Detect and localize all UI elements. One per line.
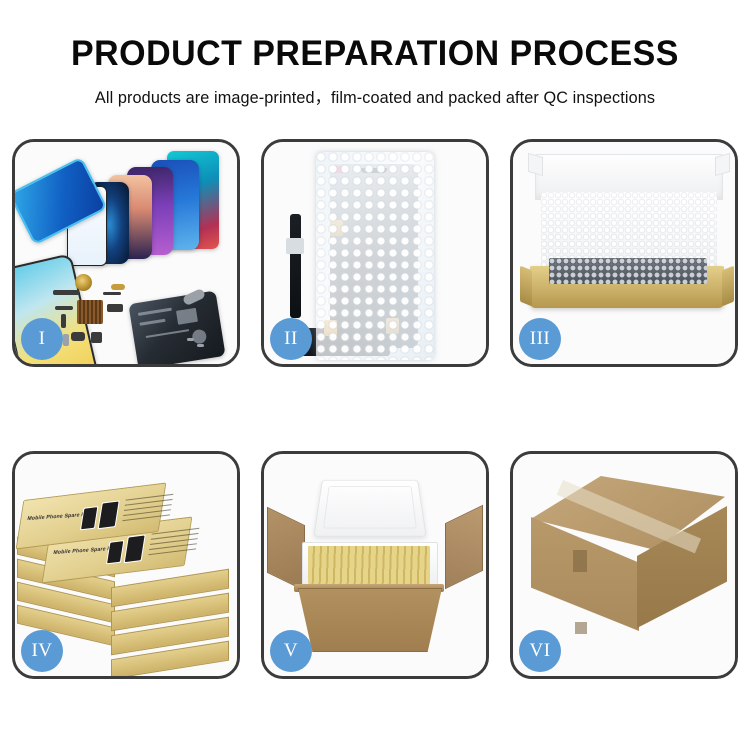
part-connector-strip [53, 290, 79, 295]
step-badge-2: II [270, 318, 312, 360]
part-camera-module [107, 304, 123, 312]
part-gold-flex [111, 284, 125, 290]
step-panel-6: VI [510, 451, 738, 679]
bubble-wrapped-contents [549, 258, 707, 284]
step-panel-1: I [12, 139, 240, 367]
page-title: PRODUCT PREPARATION PROCESS [11, 0, 739, 73]
step-panel-2: II [261, 139, 489, 367]
carton-flap-left [267, 507, 305, 592]
part-screw [187, 338, 194, 341]
carton-flap-right [445, 505, 483, 590]
lcd-gold-tab [330, 220, 343, 236]
part-button [71, 332, 85, 341]
step-badge-6: VI [519, 630, 561, 672]
step-panel-5: V [261, 451, 489, 679]
speaker-coil-part [75, 274, 92, 291]
part-vibrator [91, 332, 102, 343]
carton-seam [575, 622, 587, 634]
step-badge-1: I [21, 318, 63, 360]
pink-qc-label [334, 166, 343, 173]
lcd-gold-tab [324, 320, 337, 336]
part-pin [61, 314, 66, 328]
part-screw [197, 344, 204, 347]
lcd-gold-tab [386, 318, 399, 334]
step-badge-3: III [519, 318, 561, 360]
page-header: PRODUCT PREPARATION PROCESS All products… [0, 0, 750, 108]
foam-box-lid [313, 480, 426, 537]
step-badge-4: IV [21, 630, 63, 672]
step-panel-3: III [510, 139, 738, 367]
page-subtitle: All products are image-printed，film-coat… [6, 73, 745, 108]
phone-motherboard [128, 291, 225, 364]
part-flex-cable [103, 292, 121, 295]
process-steps-grid: I II III [12, 139, 738, 679]
part-bracket [55, 306, 73, 310]
carton-body [298, 588, 442, 652]
step-badge-5: V [270, 630, 312, 672]
carton-seam [573, 550, 587, 572]
lcd-screen [330, 164, 418, 348]
lcd-notch [361, 168, 387, 173]
yellow-boxes-inside [307, 545, 346, 584]
part-chip-array [77, 300, 103, 324]
lcd-flex-cable [290, 214, 301, 318]
part-sim-tray [63, 334, 69, 346]
step-panel-4: Mobile Phone Spare Parts Mobile Phone Sp… [12, 451, 240, 679]
lcd-driver-ic [286, 238, 304, 254]
